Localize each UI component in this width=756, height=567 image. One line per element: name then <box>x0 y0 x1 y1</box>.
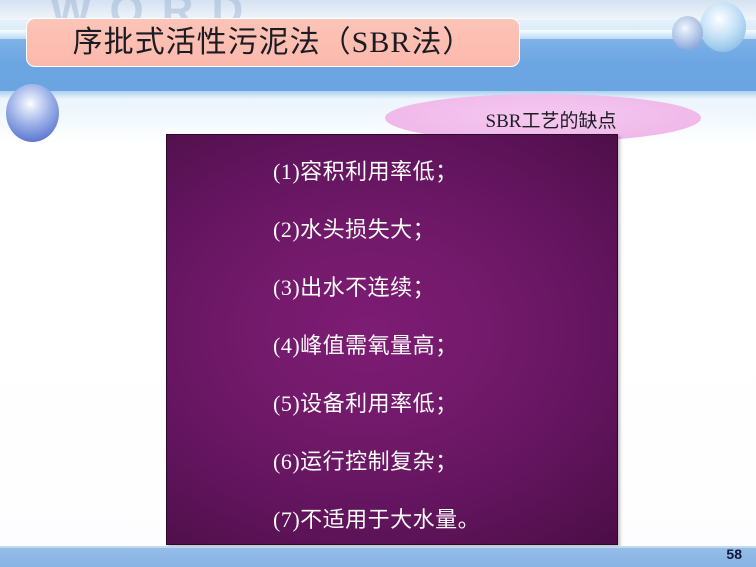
slide-title-banner: 序批式活性污泥法（SBR法） <box>26 18 520 67</box>
decorative-sphere-icon-top-right-large <box>700 2 746 52</box>
page-number: 58 <box>726 546 742 562</box>
list-item: (7)不适用于大水量。 <box>167 491 617 545</box>
footer-bar <box>0 548 756 567</box>
list-item: (2)水头损失大； <box>167 201 617 259</box>
decorative-sphere-icon-top-right-small <box>672 16 703 50</box>
page-title: 序批式活性污泥法（SBR法） <box>73 28 474 58</box>
list-item: (3)出水不连续； <box>167 259 617 317</box>
list-item: (5)设备利用率低； <box>167 375 617 433</box>
list-item: (6)运行控制复杂； <box>167 433 617 491</box>
content-panel: (1)容积利用率低； (2)水头损失大； (3)出水不连续； (4)峰值需氧量高… <box>166 134 618 545</box>
section-callout-label: SBR工艺的缺点 <box>486 106 617 133</box>
list-item: (4)峰值需氧量高； <box>167 317 617 375</box>
drawback-list: (1)容积利用率低； (2)水头损失大； (3)出水不连续； (4)峰值需氧量高… <box>167 143 617 545</box>
list-item: (1)容积利用率低； <box>167 143 617 201</box>
decorative-sphere-icon-left <box>6 84 59 142</box>
slide-canvas: WORD 序批式活性污泥法（SBR法） SBR工艺的缺点 (1)容积利用率低； … <box>0 0 756 567</box>
